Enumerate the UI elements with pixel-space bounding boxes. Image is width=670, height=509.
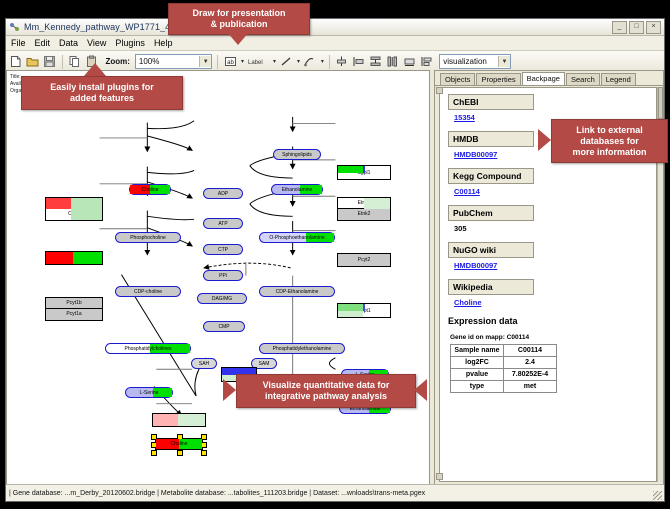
callout-plugins-arrow-up-icon [84, 63, 106, 76]
node-label: ATP [217, 221, 228, 227]
node-cmp[interactable]: CMP [203, 321, 245, 332]
menu-bar: File Edit Data View Plugins Help [6, 36, 664, 51]
zoom-combobox[interactable]: 100% ▼ [135, 54, 212, 69]
toolbar-separator-1 [62, 55, 63, 69]
scroll-corner-top[interactable] [436, 87, 443, 94]
value-fill-down [153, 414, 178, 426]
scrollbar-thumb[interactable] [658, 87, 663, 119]
node-phosphocholine[interactable]: Phosphocholine [115, 232, 181, 243]
node-label: Phosphatidylcholines [124, 346, 173, 352]
distribute-horizontal-icon[interactable] [386, 54, 400, 69]
node-ethanolamine-top[interactable]: Ethanolamine [271, 184, 323, 195]
distribute-vertical-icon[interactable] [369, 54, 383, 69]
db-link-nugo-wiki[interactable]: HMDB00097 [454, 261, 656, 270]
pathway-canvas[interactable]: Title: Availability: Organism: [6, 70, 430, 485]
value-fill-up [73, 252, 102, 264]
status-bar: | Gene database: ...m_Derby_20120602.bri… [6, 484, 664, 501]
pathvisio-window: Mm_Kennedy_pathway_WP1771_45176.gpml _ □… [5, 18, 665, 502]
menu-help[interactable]: Help [153, 38, 174, 48]
node-l-serine-left[interactable]: L-Serine [125, 387, 173, 398]
line-chevron-icon[interactable]: ▾ [297, 58, 300, 65]
zoom-value: 100% [139, 57, 199, 66]
callout-visualize-arrow-left-icon [223, 379, 236, 401]
minimize-button[interactable]: _ [612, 21, 627, 34]
node-label: SAH [198, 361, 210, 367]
gene-cept1[interactable]: Cept1 [337, 303, 391, 318]
callout-plugins: Easily install plugins for added feature… [21, 76, 183, 110]
gene-chka[interactable]: Chka [45, 208, 103, 221]
menu-edit[interactable]: Edit [34, 38, 52, 48]
node-o-phosphoethanolamine[interactable]: O-Phosphoethanolamine [259, 232, 335, 243]
tab-objects[interactable]: Objects [440, 73, 475, 85]
gene-ptdss1[interactable]: Ptdss1 [152, 413, 206, 427]
svg-text:ab: ab [227, 60, 234, 66]
gene-pcyt1a[interactable]: Pcyt1a [45, 308, 103, 321]
expression-table: Sample name C00114 log2FC 2.4 pvalue 7.8… [450, 344, 557, 393]
align-top-icon[interactable] [335, 54, 349, 69]
gene-sgpl1[interactable]: Sgpl1 [337, 165, 391, 180]
value-fill-up [71, 209, 102, 220]
toolbar-separator-2 [217, 55, 218, 69]
callout-draw-line2: & publication [211, 19, 268, 30]
db-header-pubchem: PubChem [448, 205, 534, 221]
node-cdp-choline[interactable]: CDP-choline [115, 286, 181, 297]
value-fill-up-light [338, 311, 363, 318]
toolbar-separator-3 [329, 55, 330, 69]
callout-draw-arrow-down-icon [227, 32, 249, 45]
node-label: Phosphatidylethanolamine [272, 346, 333, 352]
table-row: Sample name C00114 [451, 345, 557, 357]
pathvisio-icon [9, 22, 20, 33]
selection-group[interactable]: Choline [151, 434, 207, 454]
value-fill-up [71, 198, 102, 209]
node-label: Phosphocholine [129, 235, 167, 241]
copy-icon[interactable] [68, 54, 82, 69]
node-label: Sphingolipids [281, 152, 313, 158]
table-row: log2FC 2.4 [451, 357, 557, 369]
db-header-nugo-wiki: NuGO wiki [448, 242, 534, 258]
node-choline-top[interactable]: Choline [129, 184, 171, 195]
interaction-chevron-icon[interactable]: ▾ [321, 58, 324, 65]
label-dropdown[interactable]: Label [247, 54, 269, 69]
table-cell-key: log2FC [451, 357, 504, 369]
callout-plugins-line1: Easily install plugins for [50, 82, 154, 93]
window-controls: _ □ × [612, 21, 661, 34]
node-dagmg[interactable]: DAG/MG [197, 293, 247, 304]
node-sphingolipids[interactable]: Sphingolipids [273, 149, 321, 160]
line-icon[interactable] [279, 54, 293, 69]
table-cell-key: Sample name [451, 345, 504, 357]
expression-data-heading: Expression data [448, 316, 656, 326]
table-cell-value: 7.80252E-4 [504, 369, 557, 381]
callout-visualize-line2: integrative pathway analysis [265, 391, 387, 402]
menu-view[interactable]: View [86, 38, 107, 48]
interaction-icon[interactable] [303, 54, 317, 69]
gene-chpt1[interactable]: Chpt1 [45, 251, 103, 265]
table-row: pvalue 7.80252E-4 [451, 369, 557, 381]
node-label: SAM [258, 361, 271, 367]
table-cell-key: pvalue [451, 369, 504, 381]
resize-handle-se[interactable] [201, 450, 207, 456]
resize-handle-s[interactable] [177, 450, 183, 456]
value-fill-down [46, 198, 71, 209]
value-fill-up [364, 198, 390, 209]
save-icon[interactable] [43, 54, 57, 69]
gene-id-on-mapp: Gene id on mapp: C00114 [450, 334, 656, 341]
table-cell-key: type [451, 381, 504, 393]
maximize-button[interactable]: □ [629, 21, 644, 34]
stack-icon[interactable] [419, 54, 433, 69]
node-label: ADP [217, 191, 229, 197]
size-icon[interactable] [402, 54, 416, 69]
text-label-icon[interactable]: ab [223, 54, 237, 69]
status-text: | Gene database: ...m_Derby_20120602.bri… [9, 490, 425, 497]
node-label: Choline [170, 441, 189, 447]
value-fill-up [178, 414, 205, 426]
menu-data[interactable]: Data [58, 38, 79, 48]
db-header-hmdb: HMDB [448, 131, 534, 147]
tab-legend[interactable]: Legend [601, 73, 636, 85]
callout-visualize-line1: Visualize quantitative data for [263, 380, 390, 391]
callout-links-arrow-left-icon [538, 129, 551, 151]
node-label: CTP [217, 247, 229, 253]
tab-search[interactable]: Search [566, 73, 600, 85]
table-row: type met [451, 381, 557, 393]
close-button[interactable]: × [646, 21, 661, 34]
callout-links-line1: Link to external [576, 125, 643, 136]
gene-etnk2[interactable]: Etnk2 [337, 208, 391, 221]
node-phosphatidylcholines[interactable]: Phosphatidylcholines [105, 343, 191, 354]
callout-links: Link to external databases for more info… [551, 119, 668, 163]
value-fill-down [46, 252, 73, 264]
callout-visualize: Visualize quantitative data for integrat… [236, 374, 416, 408]
resize-handle-sw[interactable] [151, 450, 157, 456]
visualization-chevron-down-icon[interactable]: ▼ [498, 56, 510, 67]
callout-plugins-line2: added features [70, 93, 134, 104]
node-label: O-Phosphoethanolamine [268, 235, 325, 241]
node-label: L-Serine [139, 390, 160, 396]
callout-links-line2: databases for [580, 136, 639, 147]
tab-backpage[interactable]: Backpage [522, 72, 565, 85]
callout-links-line3: more information [572, 147, 646, 158]
node-adp[interactable]: ADP [203, 188, 243, 199]
node-label: CDP-choline [133, 289, 163, 295]
table-cell-value: met [504, 381, 557, 393]
gene-label: Pcyt1b [46, 300, 102, 306]
title-bar: Mm_Kennedy_pathway_WP1771_45176.gpml _ □… [6, 19, 664, 36]
tab-properties[interactable]: Properties [476, 73, 520, 85]
node-label: Choline [141, 187, 160, 193]
visualization-combobox[interactable]: visualization ▼ [439, 54, 511, 69]
db-header-kegg-compound: Kegg Compound [448, 168, 534, 184]
side-panel-tabs: Objects Properties Backpage Search Legen… [435, 71, 663, 86]
node-choline-selected[interactable]: Choline [155, 438, 203, 450]
callout-draw-line1: Draw for presentation [192, 8, 285, 19]
scroll-corner-bottom[interactable] [436, 473, 443, 480]
node-label: CDP-Ethanolamine [275, 289, 320, 295]
menu-file[interactable]: File [10, 38, 27, 48]
node-ctp[interactable]: CTP [203, 244, 243, 255]
new-icon[interactable] [9, 54, 23, 69]
node-atp[interactable]: ATP [203, 218, 243, 229]
node-cdp-ethanolamine[interactable]: CDP-Ethanolamine [259, 286, 335, 297]
gene-label: Pcyt2 [338, 257, 390, 263]
node-label: CMP [217, 324, 230, 330]
value-fill-up [338, 166, 363, 173]
callout-draw: Draw for presentation & publication [168, 3, 310, 35]
callout-visualize-arrow-right-icon [414, 379, 427, 401]
gene-label: Etnk2 [338, 211, 390, 217]
gene-pcyt2[interactable]: Pcyt2 [337, 253, 391, 267]
table-cell-value: C00114 [504, 345, 557, 357]
table-cell-value: 2.4 [504, 357, 557, 369]
db-value-pubchem: 305 [454, 224, 656, 233]
node-phosphatidylethanolamine[interactable]: Phosphatidylethanolamine [259, 343, 345, 354]
node-sah[interactable]: SAH [191, 358, 217, 369]
chevron-down-icon[interactable]: ▼ [199, 56, 211, 67]
gene-label: Pcyt1a [46, 311, 102, 317]
node-label: DAG/MG [211, 296, 233, 302]
resize-grip-icon[interactable] [653, 491, 662, 500]
align-left-icon[interactable] [352, 54, 366, 69]
menu-plugins[interactable]: Plugins [114, 38, 146, 48]
text-label-chevron-icon[interactable]: ▾ [241, 58, 244, 65]
svg-text:Label: Label [248, 60, 263, 66]
label-chevron-icon[interactable]: ▾ [273, 58, 276, 65]
db-link-kegg-compound[interactable]: C00114 [454, 187, 656, 196]
node-label: Ethanolamine [281, 187, 314, 193]
db-header-chebi: ChEBI [448, 94, 534, 110]
visualization-value: visualization [443, 57, 498, 66]
zoom-label: Zoom: [105, 57, 129, 66]
db-header-wikipedia: Wikipedia [448, 279, 534, 295]
db-link-wikipedia[interactable]: Choline [454, 298, 656, 307]
node-label: PPi [218, 273, 228, 279]
node-ppi[interactable]: PPi [203, 270, 243, 281]
open-icon[interactable] [26, 54, 40, 69]
